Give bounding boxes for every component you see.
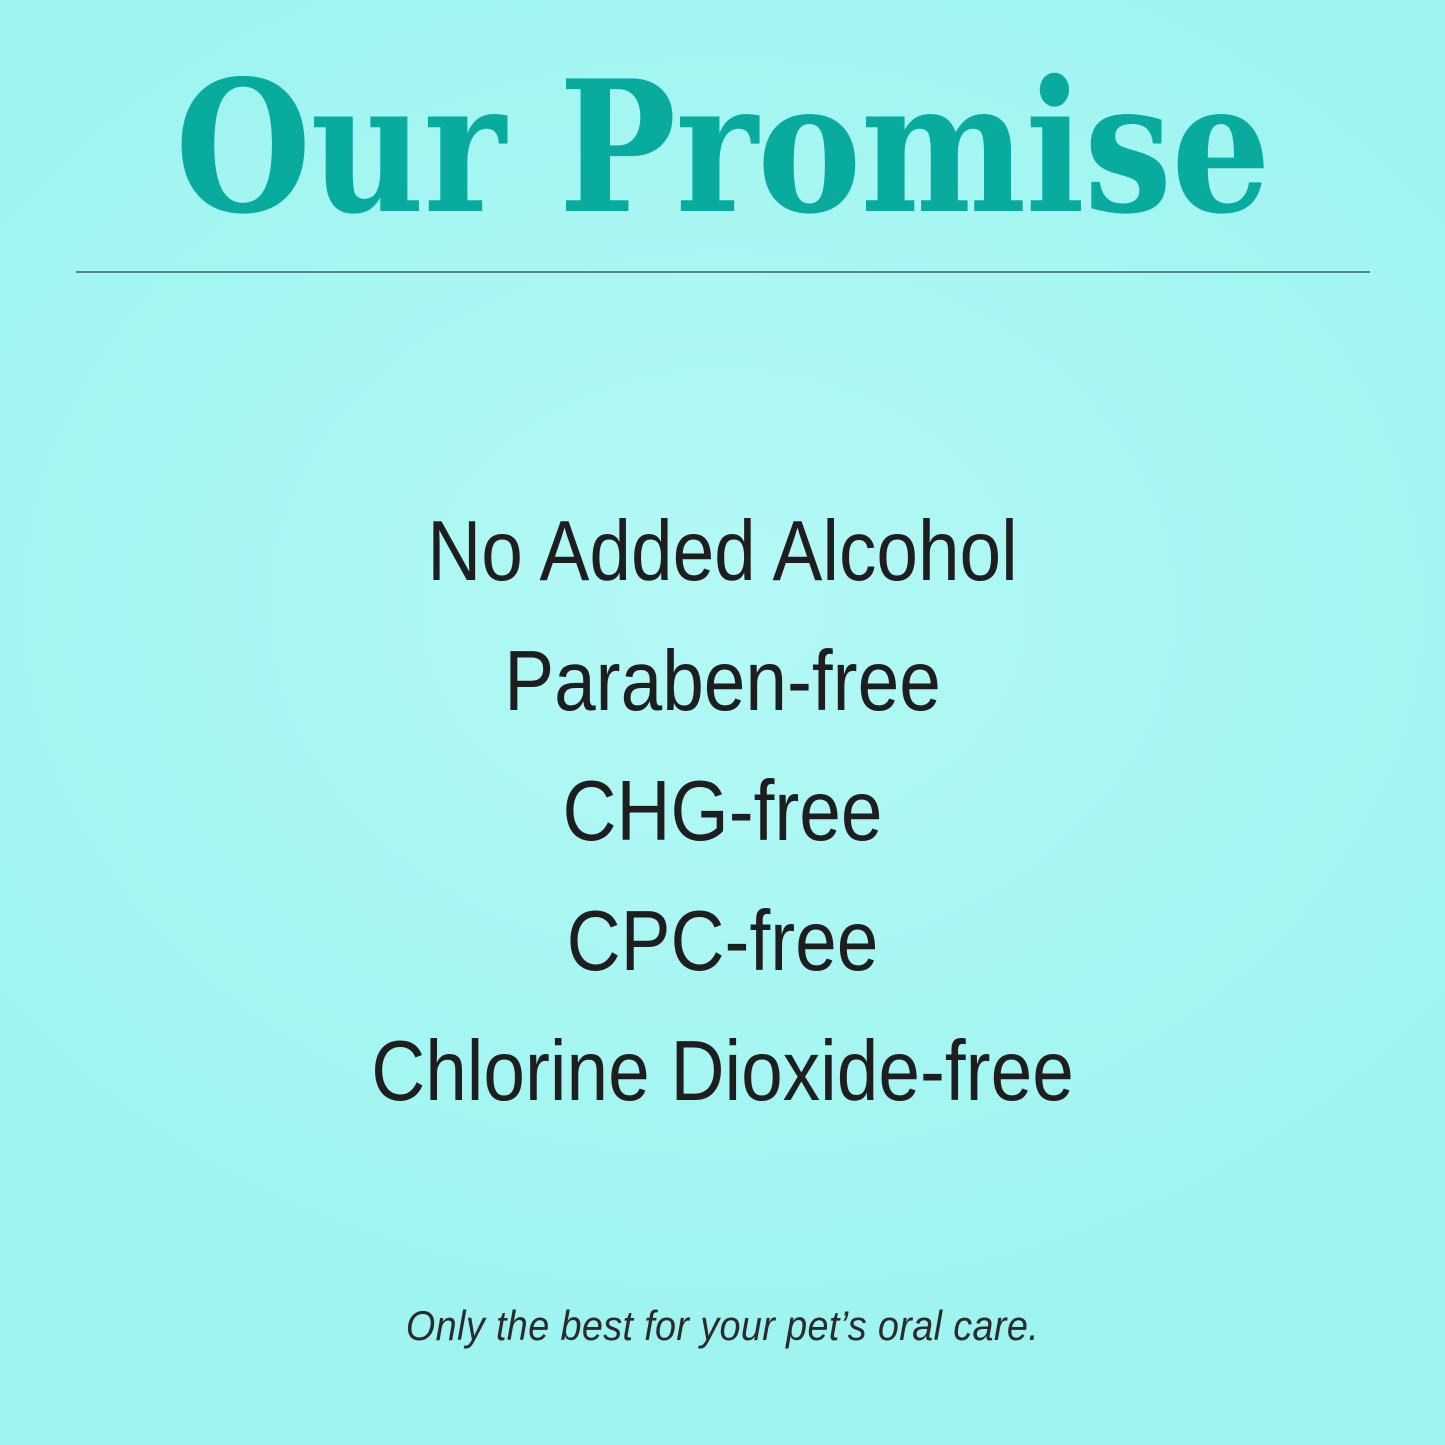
list-item: No Added Alcohol — [87, 487, 1359, 617]
page-title: Our Promise — [101, 56, 1344, 238]
our-promise-card: Our Promise No Added Alcohol Paraben-fre… — [0, 0, 1445, 1445]
list-item: Chlorine Dioxide-free — [87, 1007, 1359, 1137]
list-item: CPC-free — [87, 877, 1359, 1007]
title-divider — [76, 271, 1370, 273]
promise-list: No Added Alcohol Paraben-free CHG-free C… — [0, 487, 1445, 1137]
list-item: CHG-free — [87, 747, 1359, 877]
list-item: Paraben-free — [87, 617, 1359, 747]
header-block: Our Promise — [0, 0, 1445, 300]
footer-tagline: Only the best for your pet’s oral care. — [72, 1298, 1373, 1354]
